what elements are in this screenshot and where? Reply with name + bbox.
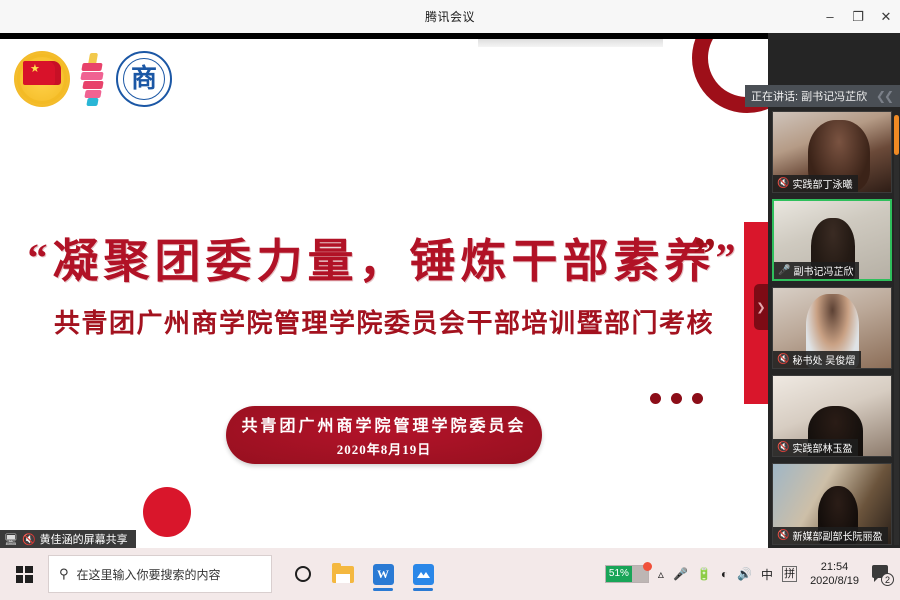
panel-collapse-button[interactable]: ❯ <box>754 284 768 330</box>
active-speaker-banner: 正在讲话: 副书记冯芷欣 ❮❮ <box>745 85 900 107</box>
headline-text: 凝聚团委力量，锤炼干部素养 <box>53 236 716 287</box>
wifi-icon[interactable]: ◐ <box>721 567 728 581</box>
microphone-icon[interactable]: 🎤 <box>673 567 688 581</box>
communist-youth-league-emblem-icon: ★ <box>14 51 70 107</box>
mic-muted-icon: 🔇 <box>22 533 36 546</box>
app-running-indicator <box>413 588 433 591</box>
slide-badge: 共青团广州商学院管理学院委员会 2020年8月19日 <box>226 406 542 464</box>
taskbar-app-tencent-meeting[interactable] <box>410 557 436 591</box>
volume-icon[interactable]: 🔊 <box>737 567 752 581</box>
participant-name-chip: 🔇 秘书处 吴俊熠 <box>773 351 861 368</box>
participant-name-chip: 🔇 新媒部副部长阮丽盈 <box>773 527 888 544</box>
tencent-meeting-icon <box>413 564 434 585</box>
active-speaker-text: 正在讲话: 副书记冯芷欣 <box>751 88 867 104</box>
network-percent-label: 51% <box>606 566 632 582</box>
share-owner-name: 黄佳涵的屏幕共享 <box>40 531 128 547</box>
presentation-slide: ★ 商 “凝聚团委力量，锤炼干部素养” <box>0 39 768 548</box>
dot-2 <box>671 393 682 404</box>
slide-subheadline: 共青团广州商学院管理学院委员会干部培训暨部门考核 <box>0 303 768 340</box>
network-speed-badge[interactable]: 51% <box>605 565 649 583</box>
meeting-body: ★ 商 “凝聚团委力量，锤炼干部素养” <box>0 33 900 548</box>
emblem-ring <box>17 54 67 104</box>
windows-taskbar: ⚲ 在这里输入你要搜索的内容 W 51% <box>0 548 900 600</box>
mic-muted-icon: 🔇 <box>777 530 789 541</box>
dot-3 <box>692 393 703 404</box>
participant-name: 实践部林玉盈 <box>792 440 852 455</box>
open-quote: “ <box>28 235 53 280</box>
screen-share-label: 🖥 🔇 黄佳涵的屏幕共享 <box>0 530 136 548</box>
participant-thumbnail[interactable]: 🔇 新媒部副部长阮丽盈 <box>772 463 892 545</box>
decorative-circle-left <box>143 487 191 537</box>
dot-1 <box>650 393 661 404</box>
close-quote: ” <box>716 235 741 280</box>
participant-thumbnail-list[interactable]: 🔇 实践部丁泳曦 🎤 副书记冯芷欣 🔇 秘书处 吴俊熠 <box>768 111 900 548</box>
ime-pinyin-indicator[interactable]: 拼 <box>782 566 797 582</box>
notification-dot <box>643 562 652 571</box>
window-controls: – ❐ ✕ <box>816 0 900 33</box>
decorative-dots <box>650 393 703 404</box>
slide-logos: ★ 商 <box>14 51 172 107</box>
scrollbar-thumb[interactable] <box>894 115 899 155</box>
badge-date: 2020年8月19日 <box>337 439 432 458</box>
system-tray: 51% ▵ 🎤 🔋 ◐ 🔊 中 拼 21:54 2020/8/19 2 <box>605 560 900 588</box>
battery-icon[interactable]: 🔋 <box>697 567 712 581</box>
minimize-button[interactable]: – <box>816 0 844 33</box>
windows-start-icon <box>16 566 33 583</box>
mic-muted-icon: 🔇 <box>777 354 789 365</box>
participant-name-chip: 🔇 实践部林玉盈 <box>773 439 858 456</box>
window-titlebar: 腾讯会议 – ❐ ✕ <box>0 0 900 33</box>
tencent-meeting-window: 腾讯会议 – ❐ ✕ ★ <box>0 0 900 600</box>
clock-date: 2020/8/19 <box>810 574 859 588</box>
mic-muted-icon: 🔇 <box>777 442 789 453</box>
participant-thumbnail[interactable]: 🔇 实践部林玉盈 <box>772 375 892 457</box>
taskbar-clock[interactable]: 21:54 2020/8/19 <box>810 560 859 588</box>
app-running-indicator <box>373 588 393 591</box>
monitor-icon: 🖥 <box>4 533 18 546</box>
star-icon: ★ <box>30 64 40 75</box>
participant-name: 新媒部副部长阮丽盈 <box>792 528 882 543</box>
start-button[interactable] <box>0 548 48 600</box>
search-icon: ⚲ <box>59 566 69 582</box>
slide-top-strip <box>478 39 663 47</box>
shared-screen-area[interactable]: ★ 商 “凝聚团委力量，锤炼干部素养” <box>0 39 768 548</box>
participant-name: 副书记冯芷欣 <box>793 263 853 278</box>
cortana-circle-icon <box>295 566 311 582</box>
seal-glyph: 商 <box>131 66 157 92</box>
window-title: 腾讯会议 <box>425 8 475 25</box>
taskbar-app-icons: W <box>290 557 436 591</box>
search-placeholder: 在这里输入你要搜索的内容 <box>77 566 221 583</box>
participant-name: 秘书处 吴俊熠 <box>792 352 855 367</box>
participant-name-chip: 🔇 实践部丁泳曦 <box>773 175 858 192</box>
participant-list-scrollbar[interactable] <box>894 115 899 545</box>
maximize-button[interactable]: ❐ <box>844 0 872 33</box>
participant-thumbnail-active[interactable]: 🎤 副书记冯芷欣 <box>772 199 892 281</box>
decorative-arc-top-right <box>685 39 768 120</box>
ime-mode-indicator[interactable]: 中 <box>761 566 773 583</box>
show-hidden-icons-button[interactable]: ▵ <box>658 567 664 581</box>
taskbar-app-wps-office[interactable]: W <box>370 557 396 591</box>
taskbar-app-file-explorer[interactable] <box>330 557 356 591</box>
participant-panel: 正在讲话: 副书记冯芷欣 ❮❮ 🔇 实践部丁泳曦 🎤 副书记冯芷欣 <box>768 33 900 548</box>
taskbar-search-input[interactable]: ⚲ 在这里输入你要搜索的内容 <box>48 555 272 593</box>
participant-name-chip: 🎤 副书记冯芷欣 <box>774 262 859 279</box>
slide-headline: “凝聚团委力量，锤炼干部素养” <box>0 225 768 291</box>
close-button[interactable]: ✕ <box>872 0 900 33</box>
badge-organization: 共青团广州商学院管理学院委员会 <box>241 412 526 436</box>
file-explorer-icon <box>332 566 354 583</box>
participant-name: 实践部丁泳曦 <box>792 176 852 191</box>
clock-time: 21:54 <box>810 560 859 574</box>
mic-on-icon: 🎤 <box>778 265 790 276</box>
participant-thumbnail[interactable]: 🔇 实践部丁泳曦 <box>772 111 892 193</box>
chevron-up-icon[interactable]: ❮❮ <box>876 89 892 103</box>
notification-count: 2 <box>881 573 894 586</box>
taskbar-app-cortana[interactable] <box>290 557 316 591</box>
participant-thumbnail[interactable]: 🔇 秘书处 吴俊熠 <box>772 287 892 369</box>
decorative-quote-mark: ” <box>693 231 716 277</box>
ribbon-flame-logo-icon <box>76 51 110 107</box>
wps-office-icon: W <box>373 564 394 585</box>
mic-muted-icon: 🔇 <box>777 178 789 189</box>
action-center-button[interactable]: 2 <box>872 564 892 584</box>
university-seal-icon: 商 <box>116 51 172 107</box>
